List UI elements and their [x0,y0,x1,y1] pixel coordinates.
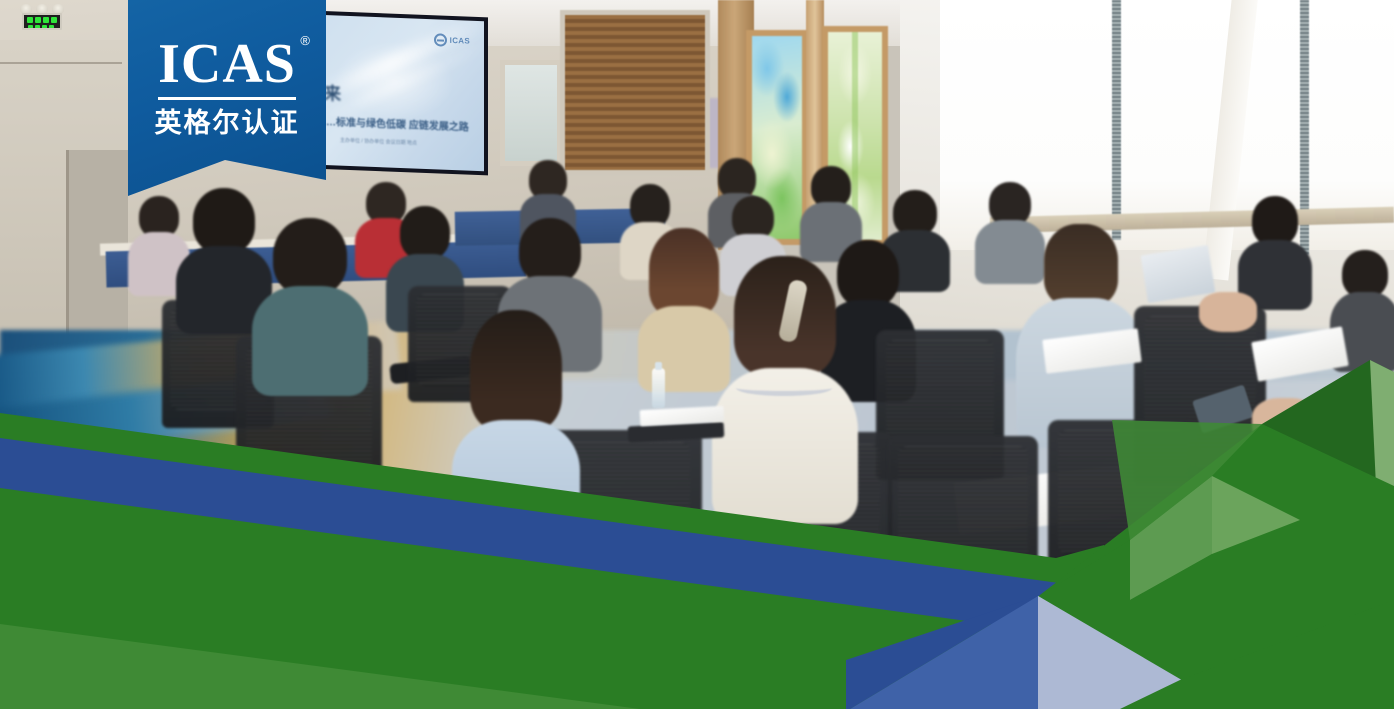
icas-logo: ICAS ® 英格尔认证 [128,36,326,139]
icas-wordmark: ICAS ® [158,36,296,100]
icas-chinese-name: 英格尔认证 [128,109,326,139]
icas-wordmark-text: ICAS [158,33,296,95]
icas-seminar-banner: ICAS 来 …标准与绿色低碳 应链发展之路 主办单位 / 协办单位 会议日期 … [0,0,1394,709]
registered-trademark-icon: ® [300,34,311,47]
